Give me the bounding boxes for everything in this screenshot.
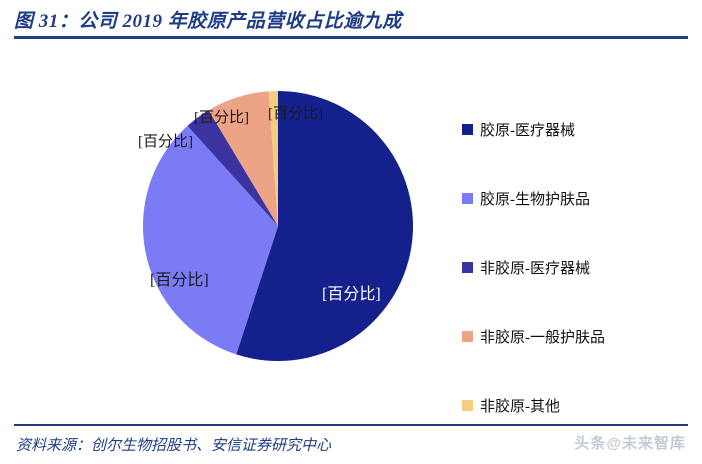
legend-swatch-icon xyxy=(462,193,473,204)
watermark: 头条@未来智库 xyxy=(574,432,686,453)
legend-item-label: 非胶原-医疗器械 xyxy=(480,257,590,278)
legend-item-label: 非胶原-其他 xyxy=(480,395,560,416)
legend-item-label: 非胶原-一般护肤品 xyxy=(480,326,605,347)
legend-swatch-icon xyxy=(462,400,473,411)
footer-divider xyxy=(14,424,688,426)
title-block: 图 31：公司 2019 年胶原产品营收占比逾九成 xyxy=(0,0,702,40)
data-label-collagen-medical-device: [百分比] xyxy=(322,280,381,304)
source-note: 资料来源：创尔生物招股书、安信证券研究中心 xyxy=(16,434,331,455)
legend-item-collagen-skincare[interactable]: 胶原-生物护肤品 xyxy=(462,187,692,209)
chart-area: [百分比] [百分比] [百分比] [百分比] [百分比] 胶原-医疗器械 胶原… xyxy=(0,44,702,416)
legend-item-label: 胶原-医疗器械 xyxy=(480,119,575,140)
page-title: 图 31：公司 2019 年胶原产品营收占比逾九成 xyxy=(14,6,402,33)
data-label-noncollagen-skincare: [百分比] xyxy=(194,106,249,127)
legend-item-noncollagen-other[interactable]: 非胶原-其他 xyxy=(462,394,692,416)
legend-swatch-icon xyxy=(462,331,473,342)
legend-item-label: 胶原-生物护肤品 xyxy=(480,188,590,209)
legend-item-noncollagen-medical-device[interactable]: 非胶原-医疗器械 xyxy=(462,256,692,278)
legend-item-noncollagen-skincare[interactable]: 非胶原-一般护肤品 xyxy=(462,325,692,347)
data-label-noncollagen-medical-device: [百分比] xyxy=(138,130,193,151)
data-label-noncollagen-other: [百分比] xyxy=(268,102,323,123)
figure-page: 图 31：公司 2019 年胶原产品营收占比逾九成 [百分比] [百分比] [百… xyxy=(0,0,702,464)
data-label-collagen-skincare: [百分比] xyxy=(150,266,209,290)
chart-legend: 胶原-医疗器械 胶原-生物护肤品 非胶原-医疗器械 非胶原-一般护肤品 非胶原-… xyxy=(462,118,692,416)
legend-swatch-icon xyxy=(462,262,473,273)
legend-swatch-icon xyxy=(462,124,473,135)
title-divider xyxy=(14,36,688,39)
legend-item-collagen-medical-device[interactable]: 胶原-医疗器械 xyxy=(462,118,692,140)
